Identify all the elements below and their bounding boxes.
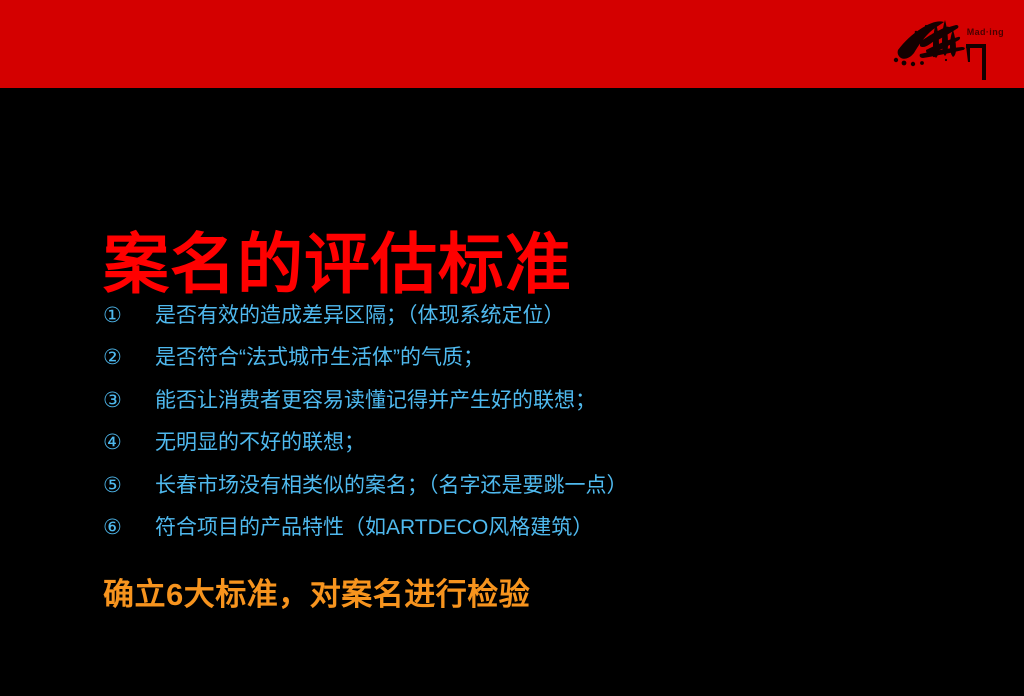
criteria-list: ① 是否有效的造成差异区隔；（体现系统定位） ② 是否符合“法式城市生活体”的气… bbox=[103, 305, 963, 559]
list-item-marker: ⑥ bbox=[103, 517, 155, 538]
list-item-marker: ④ bbox=[103, 432, 155, 453]
list-item-label: 长春市场没有相类似的案名；（名字还是要跳一点） bbox=[155, 475, 628, 496]
logo-wordmark: Mad·ing bbox=[967, 27, 1004, 37]
presentation-slide: Mad·ing 案名的评估标准 ① 是否有效的造成差异区隔；（体现系统定位） ②… bbox=[0, 0, 1024, 696]
header-band: Mad·ing bbox=[0, 0, 1024, 88]
list-item-label: 是否有效的造成差异区隔；（体现系统定位） bbox=[155, 305, 565, 326]
list-item-label: 能否让消费者更容易读懂记得并产生好的联想； bbox=[155, 390, 596, 411]
list-item: ② 是否符合“法式城市生活体”的气质； bbox=[103, 347, 963, 389]
conclusion-text: 确立6大标准，对案名进行检验 bbox=[103, 578, 530, 612]
list-item-label: 符合项目的产品特性（如ARTDECO风格建筑） bbox=[155, 517, 593, 538]
list-item-label: 无明显的不好的联想； bbox=[155, 432, 365, 453]
list-item: ⑤ 长春市场没有相类似的案名；（名字还是要跳一点） bbox=[103, 475, 963, 517]
list-item-marker: ① bbox=[103, 305, 155, 326]
list-item-label: 是否符合“法式城市生活体”的气质； bbox=[155, 347, 484, 368]
list-item-marker: ⑤ bbox=[103, 475, 155, 496]
list-item-marker: ② bbox=[103, 347, 155, 368]
list-item: ③ 能否让消费者更容易读懂记得并产生好的联想； bbox=[103, 390, 963, 432]
list-item: ① 是否有效的造成差异区隔；（体现系统定位） bbox=[103, 305, 963, 347]
page-title: 案名的评估标准 bbox=[103, 230, 572, 299]
brush-calligraphy-logo-icon bbox=[890, 6, 1010, 80]
list-item-marker: ③ bbox=[103, 390, 155, 411]
list-item: ⑥ 符合项目的产品特性（如ARTDECO风格建筑） bbox=[103, 517, 963, 559]
list-item: ④ 无明显的不好的联想； bbox=[103, 432, 963, 474]
